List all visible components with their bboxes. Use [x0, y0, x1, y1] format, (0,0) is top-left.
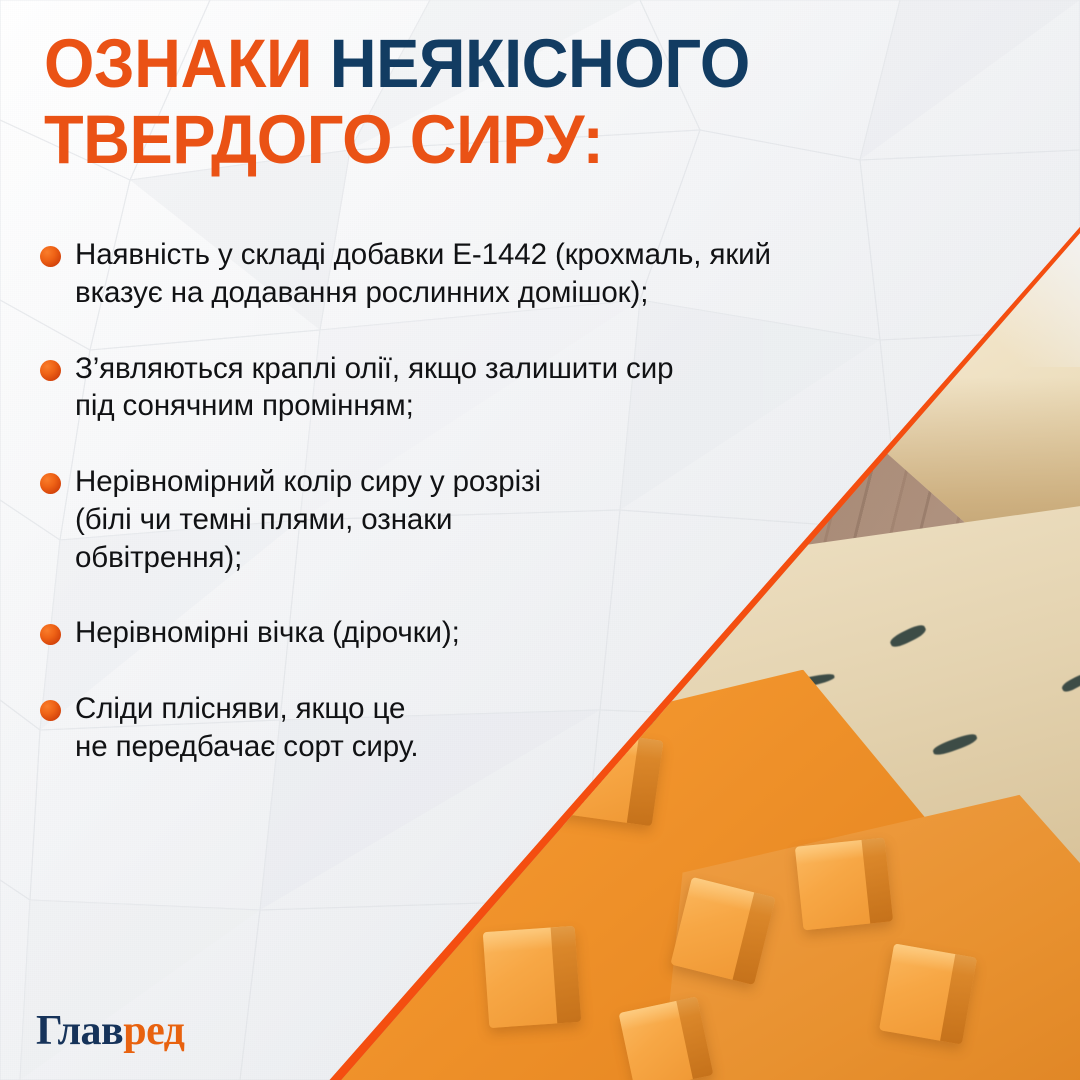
- list-item: З’являються краплі олії, якщо залишити с…: [40, 350, 980, 426]
- infographic-canvas: ОЗНАКИ НЕЯКІСНОГО ТВЕРДОГО СИРУ: Наявніс…: [0, 0, 1080, 1080]
- list-item-text: Нерівномірні вічка (дірочки);: [75, 614, 460, 652]
- title-word-oznaky: ОЗНАКИ: [44, 25, 330, 102]
- page-title: ОЗНАКИ НЕЯКІСНОГО ТВЕРДОГО СИРУ:: [44, 26, 884, 178]
- logo-part-glav: Глав: [36, 1008, 123, 1054]
- list-item: Сліди плісняви, якщо це не передбачає со…: [40, 690, 980, 766]
- glavred-logo[interactable]: Главред: [36, 1010, 184, 1052]
- cheddar-cube: [795, 838, 893, 931]
- bullet-dot-icon: [40, 473, 61, 494]
- bullet-dot-icon: [40, 624, 61, 645]
- bullet-dot-icon: [40, 360, 61, 381]
- logo-part-red: ред: [123, 1008, 184, 1054]
- title-word-neyakisnoho: НЕЯКІСНОГО: [330, 25, 750, 102]
- cheddar-cube: [483, 926, 581, 1028]
- cheddar-cube: [619, 997, 714, 1080]
- bullet-dot-icon: [40, 246, 61, 267]
- cheddar-cube: [879, 944, 977, 1045]
- list-item: Нерівномірні вічка (дірочки);: [40, 614, 980, 652]
- title-line-1: ОЗНАКИ НЕЯКІСНОГО: [44, 26, 834, 102]
- list-item-text: Нерівномірний колір сиру у розрізі (білі…: [75, 463, 541, 576]
- signs-list: Наявність у складі добавки Е-1442 (крохм…: [40, 236, 980, 766]
- list-item-text: Сліди плісняви, якщо це не передбачає со…: [75, 690, 419, 766]
- list-item: Нерівномірний колір сиру у розрізі (білі…: [40, 463, 980, 576]
- title-line-2: ТВЕРДОГО СИРУ:: [44, 102, 834, 178]
- list-item-text: З’являються краплі олії, якщо залишити с…: [75, 350, 673, 426]
- bullet-dot-icon: [40, 700, 61, 721]
- list-item-text: Наявність у складі добавки Е-1442 (крохм…: [75, 236, 771, 312]
- list-item: Наявність у складі добавки Е-1442 (крохм…: [40, 236, 980, 312]
